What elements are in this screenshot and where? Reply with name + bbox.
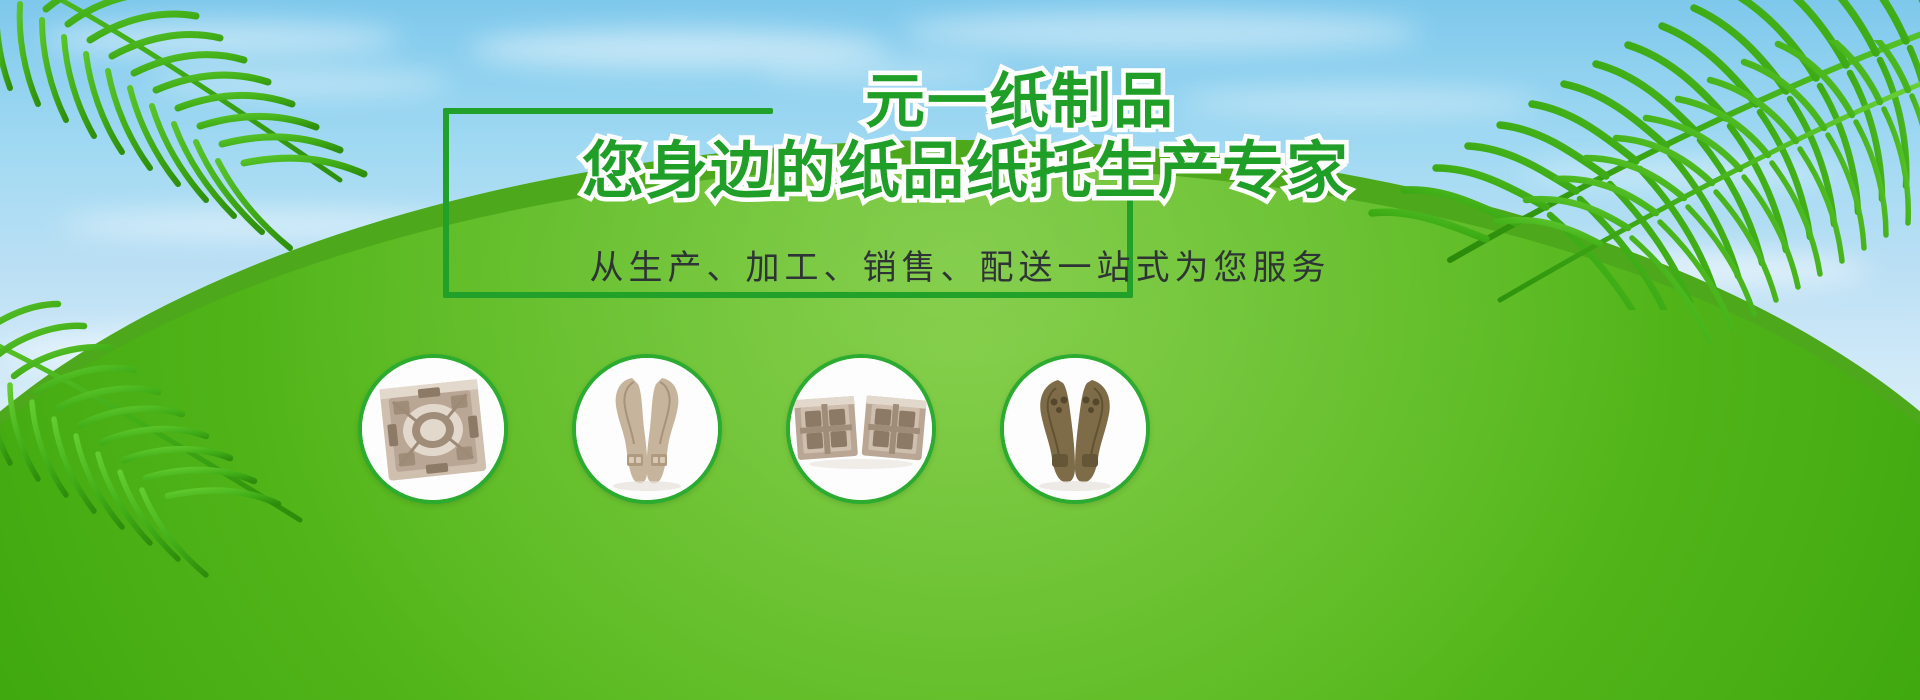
cloud bbox=[900, 12, 1420, 52]
promo-banner: 元一纸制品 您身边的纸品纸托生产专家 从生产、加工、销售、配送一站式为您服务 bbox=[0, 0, 1920, 700]
molded-pulp-shoe-tree-pair-icon bbox=[576, 358, 718, 500]
product-circle-1[interactable] bbox=[358, 354, 508, 504]
molded-pulp-corner-protectors-icon bbox=[790, 358, 932, 500]
molded-pulp-square-tray-icon bbox=[362, 358, 504, 500]
product-gallery bbox=[0, 352, 1920, 512]
molded-pulp-shoe-inserts-dark-icon bbox=[1004, 358, 1146, 500]
product-circle-3[interactable] bbox=[786, 354, 936, 504]
headline-block: 元一纸制品 您身边的纸品纸托生产专家 bbox=[0, 72, 1920, 202]
headline-line-2: 您身边的纸品纸托生产专家 bbox=[0, 140, 1920, 202]
subtitle: 从生产、加工、销售、配送一站式为您服务 bbox=[0, 240, 1920, 289]
cloud bbox=[40, 22, 400, 56]
product-circle-2[interactable] bbox=[572, 354, 722, 504]
product-circle-4[interactable] bbox=[1000, 354, 1150, 504]
headline-line-1: 元一纸制品 bbox=[0, 72, 1920, 132]
